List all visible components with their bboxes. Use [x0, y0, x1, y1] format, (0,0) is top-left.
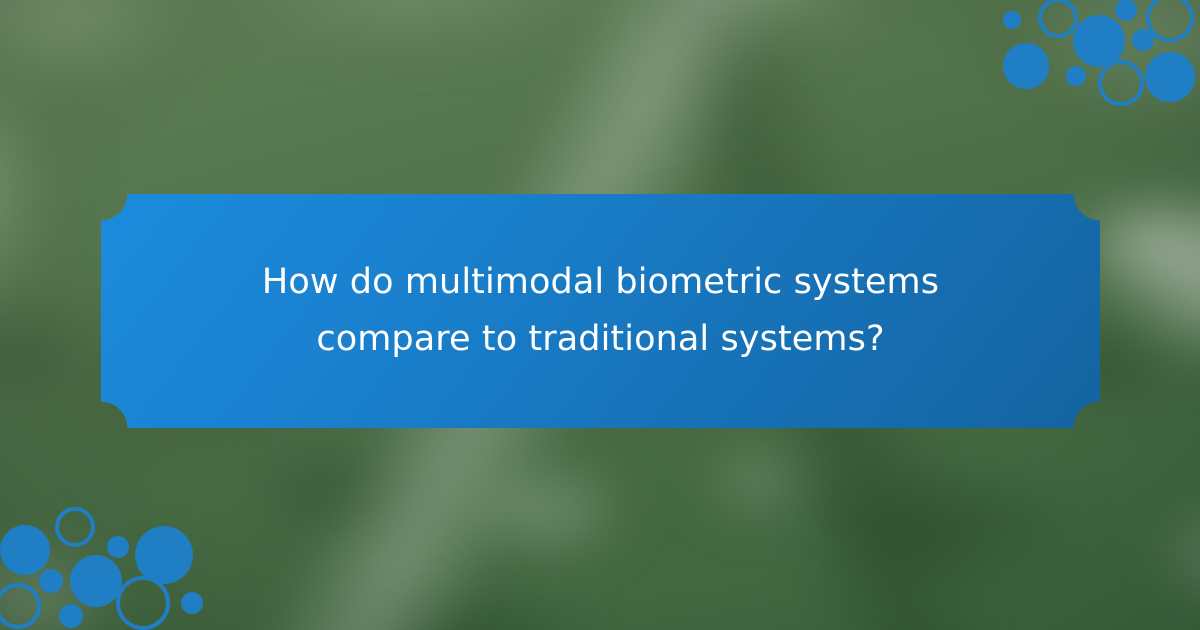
decorative-circle: [1003, 11, 1021, 29]
decorative-circle: [1040, 0, 1076, 36]
decorative-circle: [39, 569, 63, 593]
decorative-circle: [70, 555, 122, 607]
decorative-circle: [1115, 0, 1137, 21]
decorative-circle: [181, 592, 203, 614]
decorative-circle: [57, 509, 93, 545]
dot-cluster-bottom-left-svg: [0, 505, 215, 630]
quote-card-content: How do multimodal biometric systems comp…: [101, 194, 1100, 428]
decorative-circle: [1132, 29, 1154, 51]
decorative-circle: [1148, 0, 1192, 40]
dot-cluster-top-right-svg: [985, 0, 1200, 110]
decorative-circle: [1100, 62, 1142, 104]
decorative-circle: [135, 526, 193, 584]
quote-card-graphic: How do multimodal biometric systems comp…: [0, 0, 1200, 630]
decorative-circle: [1073, 15, 1125, 67]
decorative-circle: [1003, 43, 1049, 89]
dot-cluster-top-right: [985, 0, 1200, 110]
decorative-circle: [0, 585, 39, 627]
quote-card: How do multimodal biometric systems comp…: [101, 194, 1100, 428]
decorative-circle: [0, 525, 50, 575]
decorative-circle: [107, 536, 129, 558]
decorative-circle: [59, 604, 83, 628]
page-title: How do multimodal biometric systems comp…: [261, 254, 941, 367]
decorative-circle: [1145, 52, 1195, 102]
decorative-circle: [118, 578, 168, 628]
decorative-circle: [1066, 66, 1086, 86]
dot-cluster-bottom-left: [0, 505, 215, 630]
